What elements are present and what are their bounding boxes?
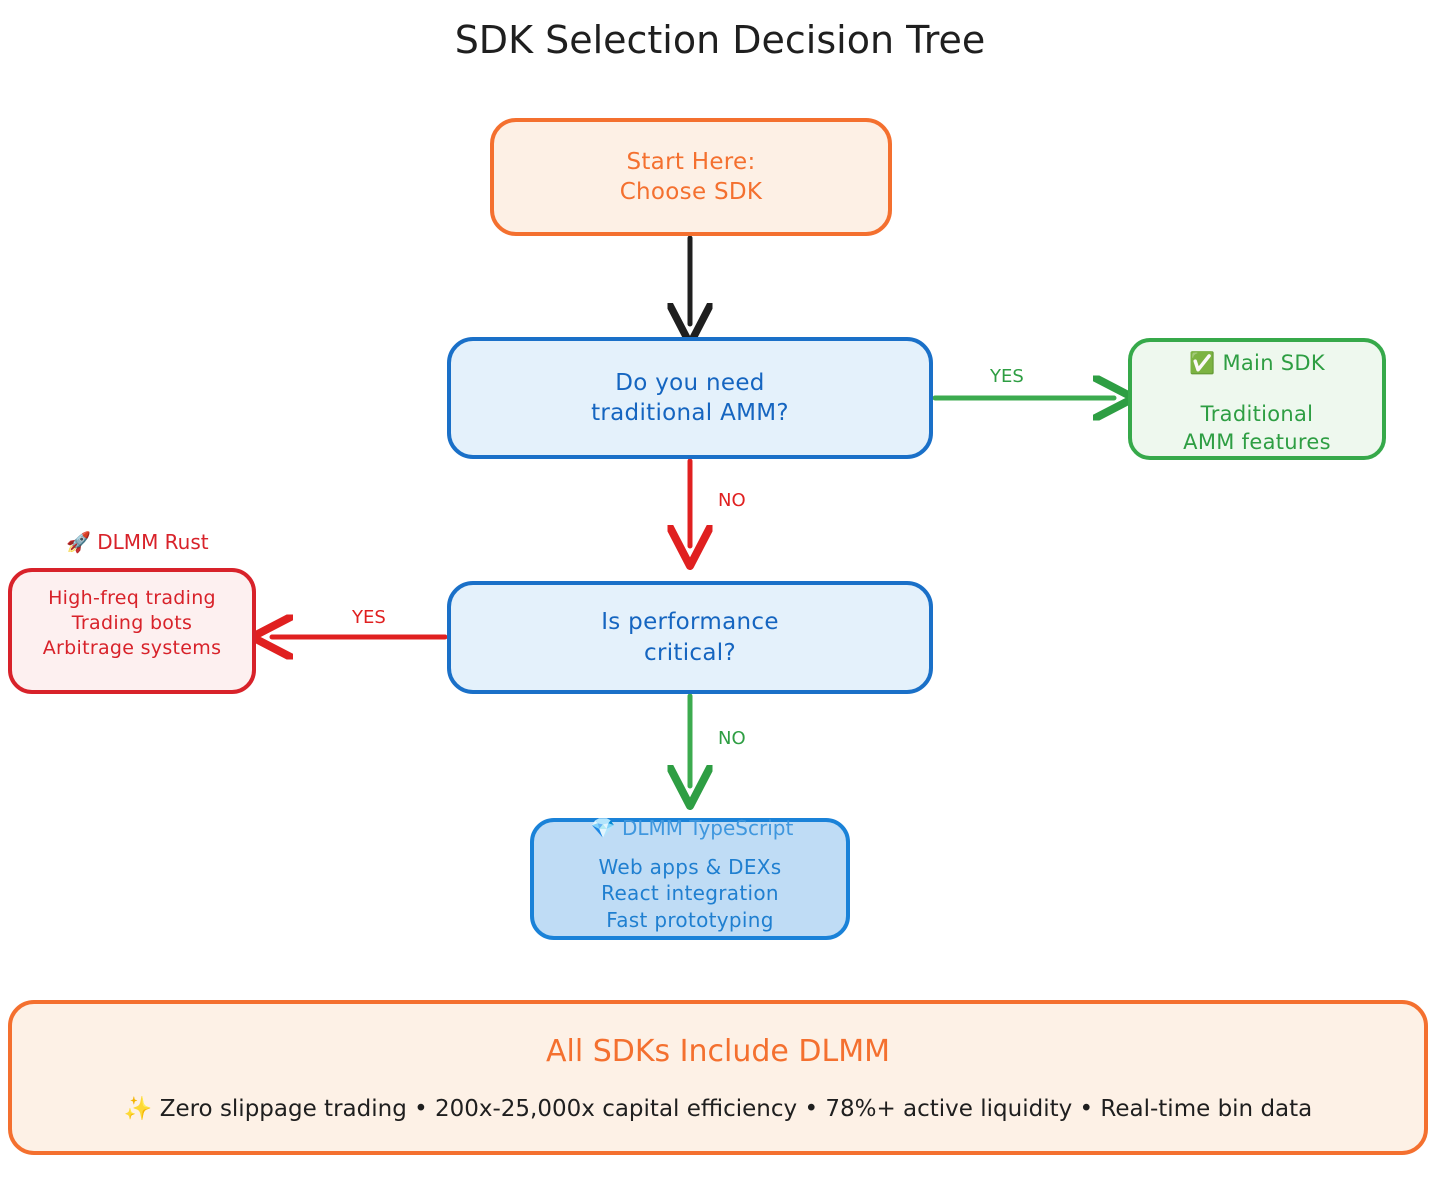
edge-label-no-amm: NO [718,490,746,511]
edge-label-no-performance: NO [718,728,746,749]
node-outcome-main-sdk[interactable]: ✅ Main SDK Traditional AMM features [1128,338,1386,460]
node-dlmm-rust-body1: High-freq trading [48,586,216,611]
node-main-sdk-body1: Traditional [1201,400,1314,428]
node-dlmm-rust-title: DLMM Rust [97,530,208,554]
node-dlmm-rust-body2: Trading bots [72,611,192,636]
edge-label-yes-performance: YES [352,607,386,628]
banner-all-sdks-include-dlmm: All SDKs Include DLMM ✨ Zero slippage tr… [8,1000,1428,1155]
node-amm-line1: Do you need [615,368,764,398]
banner-title: All SDKs Include DLMM [546,1034,890,1069]
white-check-mark-icon: ✅ [1189,351,1215,375]
decision-tree-diagram: SDK Selection Decision Tree Start Here: … [0,0,1440,1180]
node-main-sdk-title: Main SDK [1222,351,1324,375]
diagram-title: SDK Selection Decision Tree [0,18,1440,62]
node-decision-performance-critical[interactable]: Is performance critical? [447,581,933,694]
banner-features-line: ✨ Zero slippage trading • 200x-25,000x c… [124,1095,1313,1122]
node-dlmm-rust-title-row: 🚀 DLMM Rust [66,530,209,554]
node-outcome-dlmm-rust[interactable]: High-freq trading Trading bots Arbitrage… [8,568,256,694]
node-amm-line2: traditional AMM? [591,398,789,428]
node-main-sdk-body2: AMM features [1183,428,1331,456]
node-dlmm-ts-body1: Web apps & DEXs [599,854,782,880]
node-dlmm-typescript-title-row: 💎 DLMM TypeScript [582,816,802,840]
node-perf-line2: critical? [644,638,736,668]
node-start-line2: Choose SDK [620,177,763,207]
rocket-icon: 🚀 [66,530,91,554]
node-decision-traditional-amm[interactable]: Do you need traditional AMM? [447,337,933,459]
node-start-choose-sdk[interactable]: Start Here: Choose SDK [490,118,892,236]
node-dlmm-rust-body3: Arbitrage systems [43,636,222,661]
node-start-line1: Start Here: [626,147,755,177]
node-perf-line1: Is performance [601,607,779,637]
edge-label-yes-amm: YES [990,366,1024,387]
node-dlmm-typescript-title: DLMM TypeScript [622,816,793,840]
gem-icon: 💎 [591,816,616,840]
node-dlmm-ts-body3: Fast prototyping [606,907,773,933]
node-main-sdk-title-row: ✅ Main SDK [1189,350,1325,378]
node-outcome-dlmm-rust-wrapper: 🚀 DLMM Rust High-freq trading Trading bo… [8,568,256,694]
node-dlmm-ts-body2: React integration [601,880,779,906]
